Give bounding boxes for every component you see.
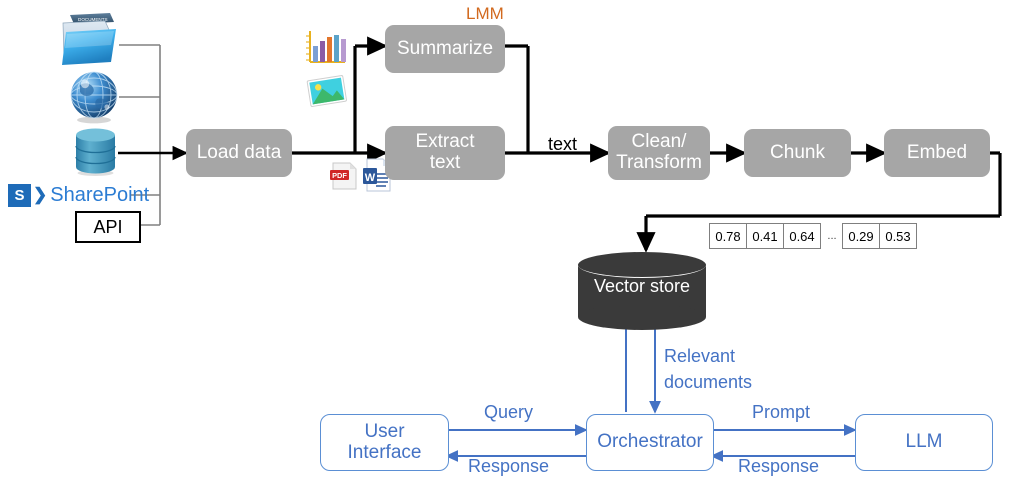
globe-icon <box>67 69 121 125</box>
api-label: API <box>93 217 122 238</box>
svg-text:W: W <box>365 172 376 184</box>
vector-store-bottom <box>578 304 706 330</box>
embedding-cell: 0.41 <box>746 223 784 249</box>
clean-transform-label-line2: Transform <box>616 153 702 174</box>
query-label: Query <box>484 402 533 423</box>
chunk-box[interactable]: Chunk <box>744 129 851 177</box>
llm-box[interactable]: LLM <box>855 414 993 471</box>
embed-label: Embed <box>907 143 967 164</box>
vector-store-top <box>578 252 706 278</box>
orchestrator-label: Orchestrator <box>597 432 703 453</box>
load-data-label: Load data <box>197 143 282 164</box>
response-llm-label: Response <box>738 456 819 477</box>
sharepoint-chevron-icon: ❯ <box>33 185 47 205</box>
sharepoint-tile-letter: S <box>8 184 31 207</box>
summarize-box[interactable]: Summarize <box>385 25 505 73</box>
user-interface-box[interactable]: User Interface <box>320 414 449 471</box>
vector-store-cylinder[interactable]: Vector store <box>578 252 706 330</box>
llm-label: LLM <box>906 432 943 453</box>
bar-chart-icon <box>303 29 347 67</box>
extract-text-label-line1: Extract <box>415 132 474 153</box>
response-ui-label: Response <box>468 456 549 477</box>
vector-store-label: Vector store <box>578 276 706 297</box>
clean-transform-box[interactable]: Clean/ Transform <box>608 126 710 180</box>
api-box-icon: API <box>75 211 141 243</box>
relevant-documents-label-line1: Relevant <box>664 346 735 367</box>
embedding-cell: 0.78 <box>709 223 747 249</box>
clean-transform-label-line1: Clean/ <box>632 132 687 153</box>
diagram-canvas: DOCUMENTS <box>0 0 1024 499</box>
pdf-file-icon: PDF <box>329 160 359 192</box>
embedding-cell: 0.29 <box>842 223 880 249</box>
prompt-label: Prompt <box>752 402 810 423</box>
lmm-annotation: LMM <box>466 4 504 24</box>
summarize-label: Summarize <box>397 39 493 60</box>
relevant-documents-label-line2: documents <box>664 372 752 393</box>
folder-documents-icon: DOCUMENTS <box>58 12 120 66</box>
chunk-label: Chunk <box>770 143 825 164</box>
load-data-box[interactable]: Load data <box>186 129 292 177</box>
user-interface-label-line2: Interface <box>348 443 422 464</box>
sharepoint-wordmark: SharePoint <box>50 184 149 207</box>
database-icon <box>72 127 119 177</box>
photo-icon <box>306 74 348 110</box>
extract-text-box[interactable]: Extract text <box>385 126 505 180</box>
embedding-vector: 0.78 0.41 0.64 ... 0.29 0.53 <box>710 224 917 248</box>
embedding-ellipsis: ... <box>821 230 843 242</box>
user-interface-label-line1: User <box>364 422 404 443</box>
embedding-cell: 0.53 <box>879 223 917 249</box>
sharepoint-icon: S ❯ SharePoint <box>8 182 149 208</box>
embed-box[interactable]: Embed <box>884 129 990 177</box>
extract-text-label-line2: text <box>430 153 461 174</box>
embedding-cell: 0.64 <box>783 223 821 249</box>
text-edge-label: text <box>548 134 577 155</box>
svg-text:PDF: PDF <box>332 171 347 180</box>
orchestrator-box[interactable]: Orchestrator <box>586 414 714 471</box>
